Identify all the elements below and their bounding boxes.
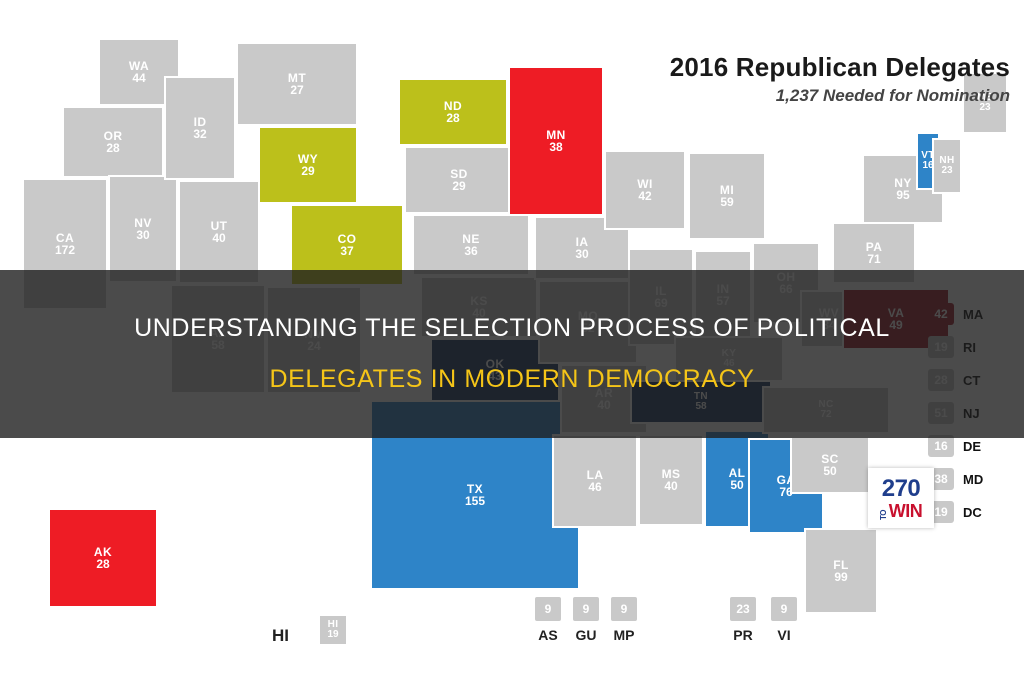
territory-gu[interactable]: 9GU — [571, 597, 601, 643]
state-delegate-count: 28 — [446, 112, 459, 124]
270towin-logo: 270 TO WIN — [868, 468, 934, 528]
overlay-headline-line2: DELEGATES IN MODERN DEMOCRACY — [269, 365, 754, 394]
state-delegate-count: 37 — [340, 245, 353, 257]
title-overlay-band: UNDERSTANDING THE SELECTION PROCESS OF P… — [0, 270, 1024, 438]
map-title-block: 2016 Republican Delegates 1,237 Needed f… — [590, 52, 1010, 106]
map-subtitle: 1,237 Needed for Nomination — [590, 86, 1010, 106]
state-ms[interactable]: MS40 — [638, 434, 704, 526]
state-mi[interactable]: MI59 — [688, 152, 766, 240]
territory-count: 23 — [730, 597, 756, 621]
state-or[interactable]: OR28 — [62, 106, 164, 178]
legend-count: 16 — [928, 435, 954, 457]
state-delegate-count: 38 — [549, 141, 562, 153]
territory-label: MP — [609, 627, 639, 643]
infographic-image: WA44OR28CA172NV30ID32MT27WY29UT40CO37AZ5… — [0, 0, 1024, 680]
legend-label: DE — [963, 439, 981, 454]
state-delegate-count: 30 — [575, 248, 588, 260]
state-wi[interactable]: WI42 — [604, 150, 686, 230]
state-delegate-count: 29 — [452, 180, 465, 192]
state-nd[interactable]: ND28 — [398, 78, 508, 146]
state-delegate-count: 59 — [720, 196, 733, 208]
territory-count: 9 — [573, 597, 599, 621]
state-wy[interactable]: WY29 — [258, 126, 358, 204]
territory-label: PR — [728, 627, 758, 643]
territory-label: VI — [769, 627, 799, 643]
map-title: 2016 Republican Delegates — [590, 52, 1010, 83]
state-delegate-count: 28 — [96, 558, 109, 570]
state-nv[interactable]: NV30 — [108, 175, 178, 283]
state-delegate-count: 71 — [867, 253, 880, 265]
overlay-headline-line1: UNDERSTANDING THE SELECTION PROCESS OF P… — [134, 314, 890, 343]
state-delegate-count: 29 — [301, 165, 314, 177]
state-sd[interactable]: SD29 — [404, 146, 514, 214]
state-delegate-count: 36 — [464, 245, 477, 257]
logo-win-text: WIN — [889, 502, 923, 520]
territory-label: GU — [571, 627, 601, 643]
state-ne[interactable]: NE36 — [412, 214, 530, 276]
territory-count: 9 — [771, 597, 797, 621]
legend-item-md[interactable]: 38MD — [928, 465, 1018, 493]
logo-to-text: TO — [880, 505, 888, 520]
state-ut[interactable]: UT40 — [178, 180, 260, 284]
territory-vi[interactable]: 9VI — [769, 597, 799, 643]
state-delegate-count: 155 — [465, 495, 485, 507]
state-sc[interactable]: SC50 — [790, 436, 870, 494]
state-delegate-count: 44 — [132, 72, 145, 84]
logo-row2: TO WIN — [880, 502, 923, 520]
state-delegate-count: 40 — [212, 232, 225, 244]
hawaii-label: HI — [272, 626, 289, 646]
state-delegate-count: 50 — [823, 465, 836, 477]
territory-count: 9 — [535, 597, 561, 621]
state-la[interactable]: LA46 — [552, 434, 638, 528]
territory-pr[interactable]: 23PR — [728, 597, 758, 643]
state-delegate-count: 95 — [896, 189, 909, 201]
state-delegate-count: 50 — [730, 479, 743, 491]
state-delegate-count: 172 — [55, 244, 75, 256]
state-hi[interactable]: HI19 — [318, 614, 348, 646]
state-delegate-count: 40 — [664, 480, 677, 492]
state-delegate-count: 30 — [136, 229, 149, 241]
state-nh[interactable]: NH23 — [932, 138, 962, 194]
legend-label: MD — [963, 472, 983, 487]
state-delegate-count: 23 — [941, 166, 952, 176]
territory-label: AS — [533, 627, 563, 643]
state-delegate-count: 99 — [834, 571, 847, 583]
legend-item-dc[interactable]: 19DC — [928, 498, 1018, 526]
territory-as[interactable]: 9AS — [533, 597, 563, 643]
state-fl[interactable]: FL99 — [804, 528, 878, 614]
territory-count: 9 — [611, 597, 637, 621]
state-mt[interactable]: MT27 — [236, 42, 358, 126]
state-delegate-count: 28 — [106, 142, 119, 154]
state-delegate-count: 42 — [638, 190, 651, 202]
state-ak[interactable]: AK28 — [48, 508, 158, 608]
logo-number: 270 — [882, 477, 921, 501]
territory-mp[interactable]: 9MP — [609, 597, 639, 643]
legend-label: DC — [963, 505, 982, 520]
state-delegate-count: 32 — [193, 128, 206, 140]
state-delegate-count: 46 — [588, 481, 601, 493]
state-delegate-count: 19 — [327, 630, 338, 640]
state-id[interactable]: ID32 — [164, 76, 236, 180]
state-delegate-count: 27 — [290, 84, 303, 96]
